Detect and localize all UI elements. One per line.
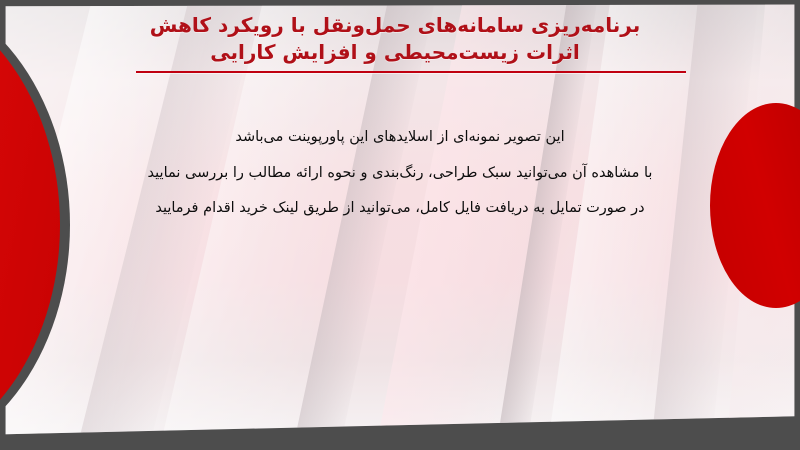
slide-content: برنامه‌ریزی سامانه‌های حمل‌ونقل با رویکر…: [0, 0, 800, 450]
slide-title: برنامه‌ریزی سامانه‌های حمل‌ونقل با رویکر…: [90, 12, 700, 66]
body-text-line-1: این تصویر نمونه‌ای از اسلایدهای این پاور…: [60, 120, 740, 156]
slide-body-text: این تصویر نمونه‌ای از اسلایدهای این پاور…: [60, 120, 740, 227]
presentation-slide: برنامه‌ریزی سامانه‌های حمل‌ونقل با رویکر…: [0, 0, 800, 450]
body-text-line-3: در صورت تمایل به دریافت فایل کامل، می‌تو…: [60, 191, 740, 227]
slide-title-line-1: برنامه‌ریزی سامانه‌های حمل‌ونقل با رویکر…: [90, 12, 700, 39]
title-underline-rule: [136, 71, 686, 73]
slide-title-line-2: اثرات زیست‌محیطی و افزایش کارایی: [90, 39, 700, 66]
body-text-line-2: با مشاهده آن می‌توانید سبک طراحی، رنگ‌بن…: [60, 156, 740, 192]
